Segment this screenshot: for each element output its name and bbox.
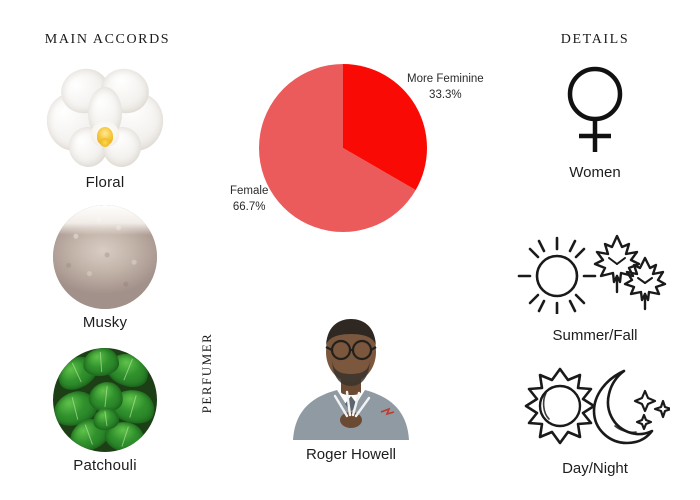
venus-female-symbol-icon (500, 62, 690, 158)
pie-label-female: Female 66.7% (230, 184, 268, 215)
accord-item-patchouli: Patchouli (45, 348, 165, 474)
accord-item-musky: Musky (45, 205, 165, 331)
accord-label: Floral (45, 174, 165, 191)
perfumer-name: Roger Howell (276, 446, 426, 463)
white-orchid-photo (45, 65, 165, 170)
patchouli-leaves-photo (45, 348, 165, 453)
pie-label-name: Female (230, 185, 268, 197)
pie-label-more-feminine: More Feminine 33.3% (407, 72, 484, 103)
sun-and-crescent-moon-icon (500, 358, 690, 454)
accord-item-floral: Floral (45, 65, 165, 191)
detail-item-day-night: Day/Night (500, 358, 690, 477)
detail-item-summer-fall: Summer/Fall (500, 225, 690, 344)
main-accords-heading: MAIN ACCORDS (0, 32, 215, 48)
detail-label: Day/Night (500, 460, 690, 477)
pie-label-value: 33.3% (407, 88, 484, 104)
perfumer-portrait-photo (277, 300, 425, 440)
detail-label: Summer/Fall (500, 327, 690, 344)
perfume-profile-infographic: MAIN ACCORDS DETAILS Floral (0, 0, 700, 500)
detail-item-women: Women (500, 62, 690, 181)
sun-and-maple-leaves-icon (500, 225, 690, 321)
perfumer-card: Roger Howell (276, 300, 426, 463)
pie-label-name: More Feminine (407, 73, 484, 85)
accord-label: Patchouli (45, 457, 165, 474)
details-heading: DETAILS (490, 32, 700, 48)
portrait-illustration (277, 300, 425, 440)
pie-chart-svg (257, 62, 429, 234)
pie-label-value: 66.7% (230, 200, 268, 216)
musk-powder-photo (45, 205, 165, 310)
accord-label: Musky (45, 314, 165, 331)
detail-label: Women (500, 164, 690, 181)
gender-pie-chart (257, 62, 429, 244)
perfumer-heading: PERFUMER (199, 318, 221, 428)
